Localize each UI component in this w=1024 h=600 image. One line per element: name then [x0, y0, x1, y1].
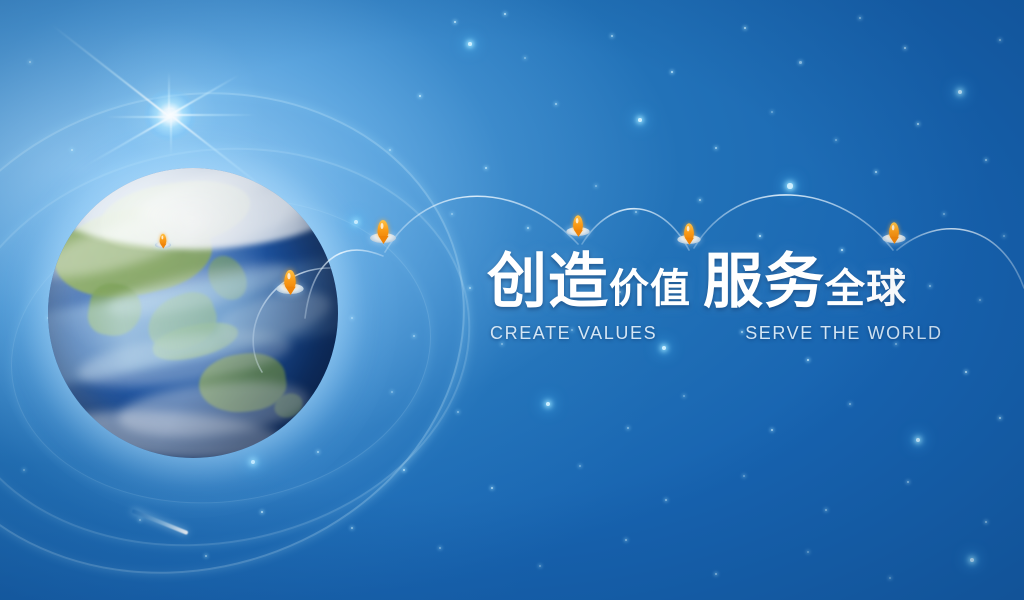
banner-canvas: 创造 价值 服务 全球 CREATE VALUES SERVE THE WORL…	[0, 0, 1024, 600]
vignette-overlay	[0, 0, 1024, 600]
